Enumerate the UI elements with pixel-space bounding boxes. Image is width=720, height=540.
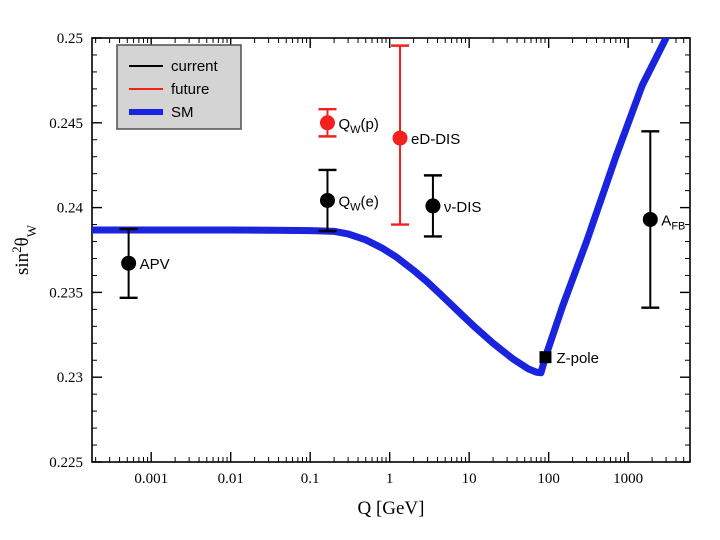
legend: currentfutureSM	[117, 45, 241, 129]
x-tick-label: 1	[386, 471, 394, 487]
y-axis-title: sin2θW	[9, 224, 39, 275]
marker-circle	[320, 115, 335, 130]
point-label-subscript: W	[350, 201, 361, 213]
y-tick-label: 0.245	[49, 116, 83, 132]
x-axis-title: Q [GeV]	[357, 498, 424, 519]
marker-square	[539, 351, 551, 363]
point-label-tail: (e)	[361, 193, 379, 210]
data-point-apv[interactable]: APV	[120, 229, 170, 298]
data-point-z-pole[interactable]: Z-pole	[539, 350, 599, 367]
point-label-text: eD-DIS	[411, 131, 460, 148]
point-label-subscript: FB	[671, 220, 685, 232]
point-label-qw(p): QW(p)	[338, 116, 378, 136]
ylabel-theta: θ	[12, 237, 33, 246]
y-tick-label: 0.25	[57, 31, 83, 47]
point-label-text: Z-pole	[556, 350, 599, 367]
legend-label-SM: SM	[171, 104, 194, 121]
point-label-tail: (p)	[361, 116, 379, 133]
point-label-text: Q	[338, 193, 350, 210]
legend-label-future: future	[171, 81, 209, 98]
y-tick-label: 0.225	[49, 455, 83, 471]
marker-circle	[320, 193, 335, 208]
y-tick-label: 0.235	[49, 285, 83, 301]
x-tick-label: 0.01	[218, 471, 244, 487]
point-label-subscript: W	[350, 124, 361, 136]
point-label-apv: APV	[140, 256, 170, 273]
x-tick-label: 0.1	[301, 471, 320, 487]
y-tick-label: 0.24	[57, 201, 84, 217]
x-tick-label: 0.001	[134, 471, 168, 487]
marker-circle	[393, 131, 408, 146]
point-label-text: Q	[338, 116, 350, 133]
data-point-ed-dis[interactable]: eD-DIS	[391, 46, 460, 225]
ylabel-subscript: W	[24, 224, 39, 237]
x-tick-label: 1000	[613, 471, 643, 487]
point-label-qw(e): QW(e)	[338, 193, 378, 213]
point-label-text: A	[661, 212, 671, 229]
sin2thetaw-running-plot: 0.0010.010.111010010000.2250.230.2350.24…	[0, 0, 720, 540]
y-tick-label: 0.23	[57, 370, 83, 386]
point-label-nu-dis: ν-DIS	[444, 199, 482, 216]
ylabel-base: sin	[12, 252, 33, 275]
point-label-ed-dis: eD-DIS	[411, 131, 460, 148]
marker-circle	[121, 256, 136, 271]
point-label-text: ν-DIS	[444, 199, 482, 216]
x-tick-label: 10	[462, 471, 477, 487]
marker-circle	[425, 198, 440, 213]
data-point-qw(p)[interactable]: QW(p)	[318, 109, 378, 136]
figure-root: 0.0010.010.111010010000.2250.230.2350.24…	[0, 0, 720, 540]
data-point-nu-dis[interactable]: ν-DIS	[424, 175, 482, 236]
point-label-afb: AFB	[661, 212, 685, 232]
x-tick-label: 100	[537, 471, 560, 487]
data-point-afb[interactable]: AFB	[641, 131, 685, 307]
marker-circle	[643, 212, 658, 227]
y-axis-title-text: sin2θW	[9, 224, 39, 275]
legend-label-current: current	[171, 58, 219, 75]
point-label-text: APV	[140, 256, 170, 273]
point-label-z-pole: Z-pole	[556, 350, 599, 367]
data-point-qw(e)[interactable]: QW(e)	[318, 170, 378, 231]
